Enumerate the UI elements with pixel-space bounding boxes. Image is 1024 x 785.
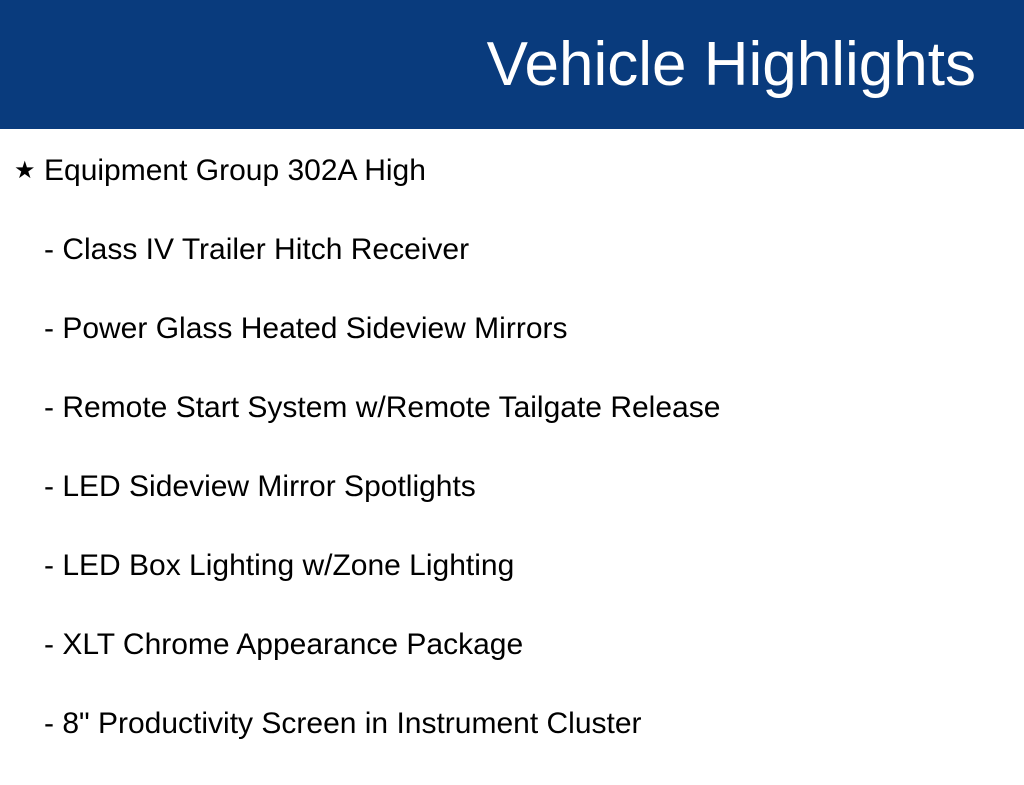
star-icon: ★: [14, 153, 44, 189]
list-item: - Remote Start System w/Remote Tailgate …: [0, 390, 1024, 469]
list-item: - Power Glass Heated Sideview Mirrors: [0, 311, 1024, 390]
sub-item-label: - LED Box Lighting w/Zone Lighting: [44, 548, 514, 584]
slide-header-bar: Vehicle Highlights: [0, 0, 1024, 129]
sub-item-label: - Remote Start System w/Remote Tailgate …: [44, 390, 720, 426]
page-title: Vehicle Highlights: [487, 34, 976, 96]
list-item: - 8" Productivity Screen in Instrument C…: [0, 706, 1024, 785]
sub-item-label: - LED Sideview Mirror Spotlights: [44, 469, 476, 505]
main-bullet-label: Equipment Group 302A High: [44, 153, 426, 189]
list-item: - LED Box Lighting w/Zone Lighting: [0, 548, 1024, 627]
slide-body: ★ Equipment Group 302A High - Class IV T…: [0, 129, 1024, 768]
list-item: - LED Sideview Mirror Spotlights: [0, 469, 1024, 548]
list-item: - Class IV Trailer Hitch Receiver: [0, 232, 1024, 311]
sub-item-label: - Class IV Trailer Hitch Receiver: [44, 232, 469, 268]
list-item: ★ Equipment Group 302A High: [0, 153, 1024, 232]
sub-item-label: - XLT Chrome Appearance Package: [44, 627, 523, 663]
sub-item-label: - 8" Productivity Screen in Instrument C…: [44, 706, 642, 742]
slide: Vehicle Highlights ★ Equipment Group 302…: [0, 0, 1024, 768]
list-item: - XLT Chrome Appearance Package: [0, 627, 1024, 706]
sub-item-label: - Power Glass Heated Sideview Mirrors: [44, 311, 568, 347]
